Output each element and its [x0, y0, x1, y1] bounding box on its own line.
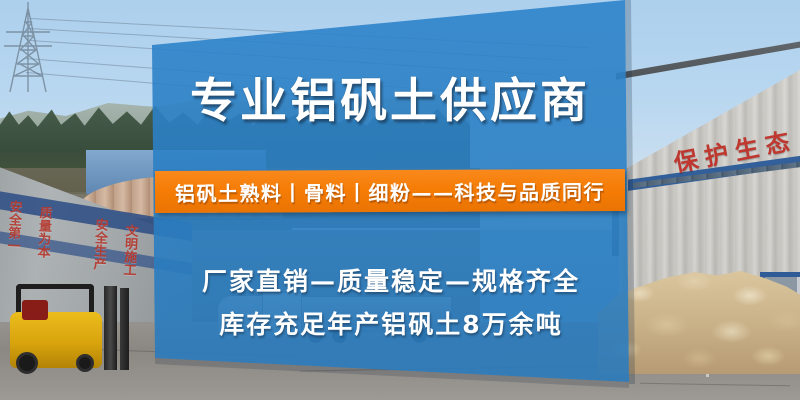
- banner-content: 专业铝矾土供应商 铝矾土熟料丨骨料丨细粉——科技与品质同行 厂家直销—质量稳定—…: [0, 0, 800, 400]
- banner-subline-2: 库存充足年产铝矾土8万余吨: [153, 305, 629, 341]
- bauxite-supplier-banner: 安全第一 质量为本 安全生产 文明施工 保护生态: [0, 0, 800, 400]
- orange-tagline-text: 铝矾土熟料丨骨料丨细粉——科技与品质同行: [175, 176, 605, 207]
- banner-headline: 专业铝矾土供应商: [152, 78, 628, 125]
- banner-subline-1: 厂家直销—质量稳定—规格齐全: [153, 262, 629, 298]
- orange-tagline-bar: 铝矾土熟料丨骨料丨细粉——科技与品质同行: [155, 169, 625, 213]
